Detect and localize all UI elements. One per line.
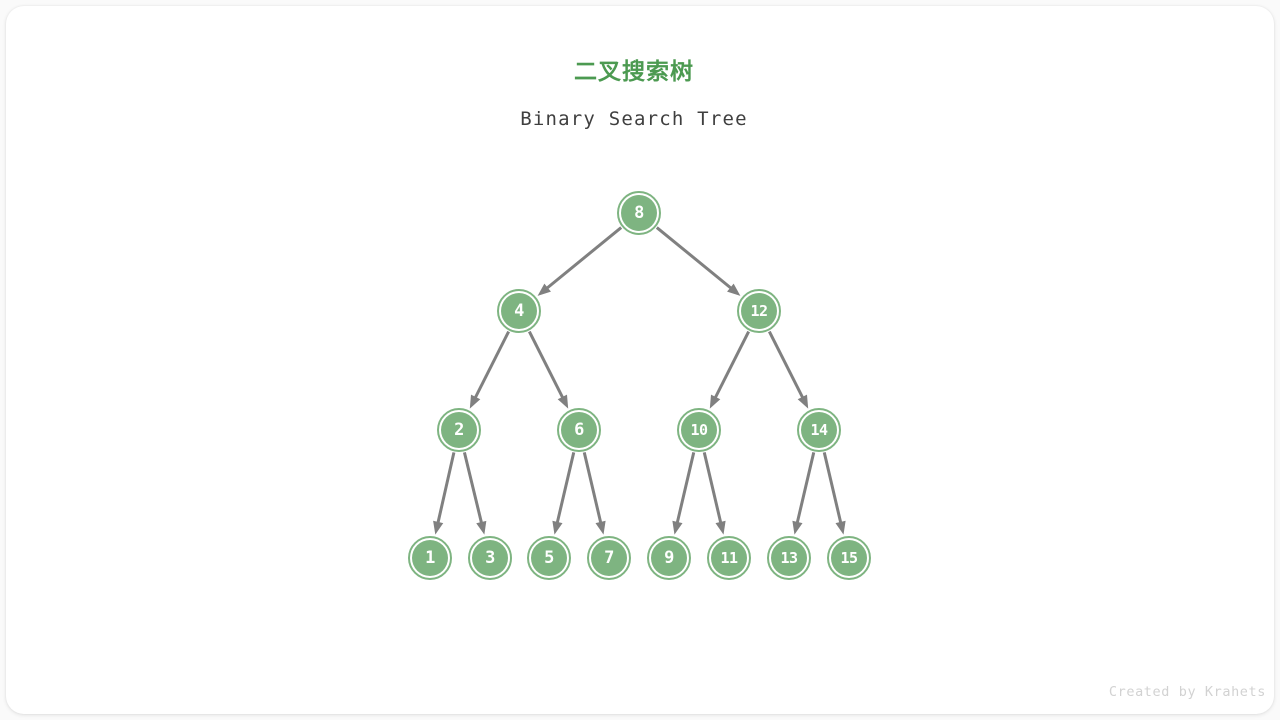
credit-label: Created by Krahets (1109, 684, 1266, 700)
tree-edge (704, 452, 721, 524)
screenshot-root: 二叉搜索树 Binary Search Tree 841226101413579… (0, 0, 1280, 720)
tree-edge (584, 452, 601, 524)
tree-node-label: 9 (651, 540, 687, 576)
tree-node-label: 12 (741, 293, 777, 329)
tree-node-10: 10 (677, 408, 721, 452)
tree-node-15: 15 (827, 536, 871, 580)
tree-node-5: 5 (527, 536, 571, 580)
tree-edge (677, 452, 694, 524)
tree-edge (475, 332, 509, 399)
tree-node-label: 13 (771, 540, 807, 576)
tree-edges-layer (0, 0, 1280, 720)
tree-edge (557, 452, 574, 524)
tree-edge-arrowhead (470, 395, 480, 409)
tree-node-label: 4 (501, 293, 537, 329)
tree-edge-arrowhead (433, 521, 443, 535)
tree-edge (657, 228, 732, 289)
tree-edge (769, 332, 803, 399)
tree-node-13: 13 (767, 536, 811, 580)
tree-node-label: 8 (621, 195, 657, 231)
tree-edge (824, 452, 841, 524)
tree-edge (715, 332, 749, 399)
tree-node-label: 3 (472, 540, 508, 576)
tree-edge (529, 332, 563, 399)
tree-edge (546, 228, 621, 289)
tree-node-12: 12 (737, 289, 781, 333)
tree-edge-arrowhead (476, 521, 486, 535)
tree-node-label: 11 (711, 540, 747, 576)
tree-edge-arrowhead (715, 521, 725, 535)
tree-edge-arrowhead (792, 521, 802, 535)
tree-node-2: 2 (437, 408, 481, 452)
tree-node-label: 2 (441, 412, 477, 448)
tree-node-label: 6 (561, 412, 597, 448)
tree-edge (464, 452, 481, 524)
tree-node-label: 5 (531, 540, 567, 576)
tree-edge-arrowhead (595, 521, 605, 535)
tree-node-8: 8 (617, 191, 661, 235)
tree-node-6: 6 (557, 408, 601, 452)
tree-node-label: 10 (681, 412, 717, 448)
tree-node-11: 11 (707, 536, 751, 580)
tree-node-label: 14 (801, 412, 837, 448)
tree-node-4: 4 (497, 289, 541, 333)
tree-node-7: 7 (587, 536, 631, 580)
tree-node-label: 15 (831, 540, 867, 576)
tree-node-14: 14 (797, 408, 841, 452)
tree-node-label: 7 (591, 540, 627, 576)
tree-edge-arrowhead (558, 395, 568, 409)
tree-edge-arrowhead (835, 521, 845, 535)
tree-edge (438, 452, 454, 523)
tree-node-label: 1 (412, 540, 448, 576)
tree-edge-arrowhead (672, 521, 682, 535)
tree-edge-arrowhead (710, 395, 720, 409)
tree-edge-arrowhead (798, 395, 808, 409)
tree-edge (797, 452, 814, 524)
tree-edge-arrowhead (552, 521, 562, 535)
tree-node-1: 1 (408, 536, 452, 580)
tree-node-9: 9 (647, 536, 691, 580)
tree-node-3: 3 (468, 536, 512, 580)
